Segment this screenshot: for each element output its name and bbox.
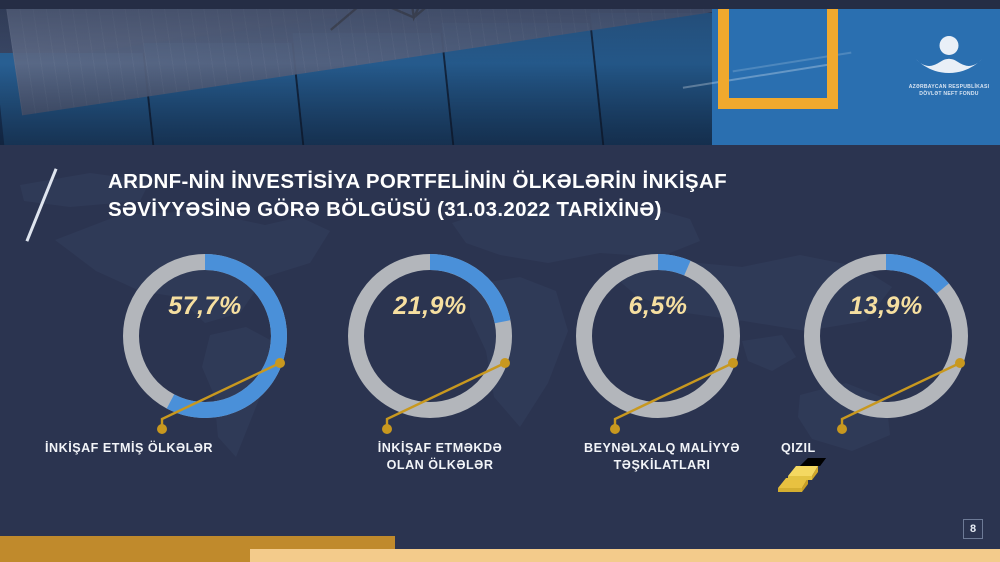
donut-caption-3: BEYNƏLXALQ MALİYYƏ TƏŞKİLATLARI — [552, 440, 772, 474]
leader-line-3 — [563, 355, 743, 440]
top-dark-strip — [0, 0, 1000, 9]
donut-caption-4: QIZIL — [781, 440, 941, 457]
page-title: ARDNF-NİN İNVESTİSİYA PORTFELİNİN ÖLKƏLƏ… — [108, 168, 848, 224]
donut-caption-2: İNKİŞAF ETMƏKDƏ OLAN ÖLKƏLƏR — [330, 440, 550, 474]
bottom-bar-light-gold — [250, 549, 1000, 562]
donut-percentage-label: 57,7% — [117, 292, 293, 321]
sofaz-logo-mark — [906, 33, 992, 77]
presentation-slide: AZƏRBAYCAN RESPUBLİKASI DÖVLƏT NEFT FOND… — [0, 0, 1000, 562]
donut-caption-1: İNKİŞAF ETMİŞ ÖLKƏLƏR — [45, 440, 275, 457]
donut-percentage-label: 6,5% — [570, 292, 746, 321]
donut-percentage-label: 13,9% — [798, 292, 974, 321]
header-banner: AZƏRBAYCAN RESPUBLİKASI DÖVLƏT NEFT FOND… — [0, 9, 1000, 145]
title-line-2: SƏVİYYƏSİNƏ GÖRƏ BÖLGÜSÜ (31.03.2022 TAR… — [108, 196, 848, 224]
building-photo — [0, 9, 712, 145]
donut-percentage-label: 21,9% — [342, 292, 518, 321]
title-line-1: ARDNF-NİN İNVESTİSİYA PORTFELİNİN ÖLKƏLƏ… — [108, 170, 727, 193]
leader-line-4 — [790, 355, 970, 440]
leader-line-1 — [110, 355, 290, 440]
leader-line-2 — [335, 355, 515, 440]
gold-frame-decoration — [718, 9, 838, 109]
photo-overlay — [0, 9, 712, 145]
logo-text: AZƏRBAYCAN RESPUBLİKASI DÖVLƏT NEFT FOND… — [906, 84, 992, 97]
page-number-badge: 8 — [963, 519, 983, 539]
sofaz-logo: AZƏRBAYCAN RESPUBLİKASI DÖVLƏT NEFT FOND… — [906, 33, 992, 97]
gold-bars-icon — [774, 458, 830, 494]
